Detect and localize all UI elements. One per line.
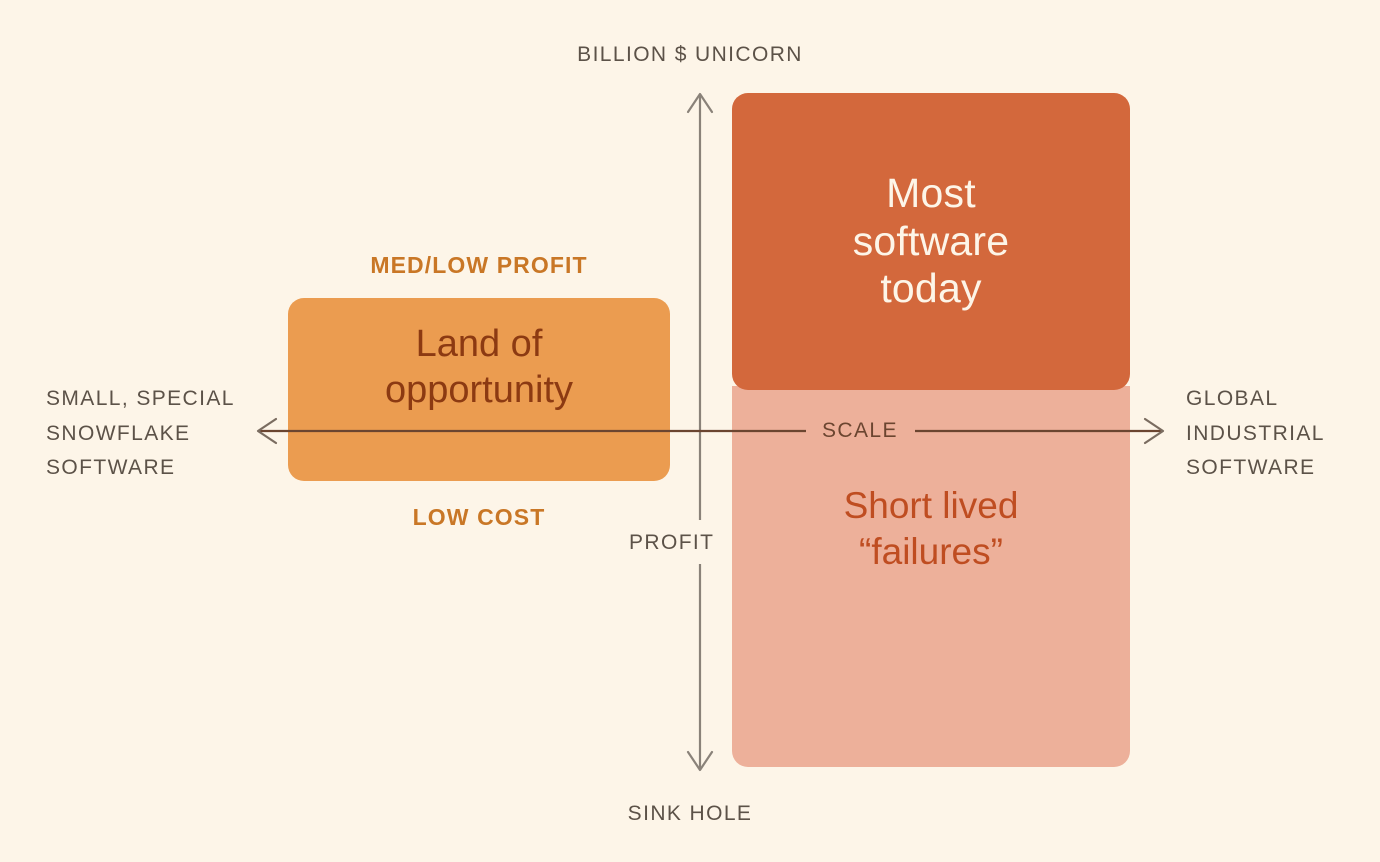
axis-label-sink-hole: SINK HOLE — [0, 797, 1380, 832]
quadrant-block-land-of-opportunity: Land of opportunity — [288, 298, 670, 481]
quadrant-block-short-lived-failures-label: Short lived “failures” — [844, 483, 1019, 573]
quadrant-block-land-of-opportunity-label: Land of opportunity — [385, 322, 573, 413]
quadrant-block-short-lived-failures: Short lived “failures” — [732, 386, 1130, 767]
callout-med-low-profit: MED/LOW PROFIT — [288, 252, 670, 279]
vertical-axis-down-arrowhead — [688, 752, 712, 770]
axis-name-profit: PROFIT — [629, 531, 714, 555]
quadrant-block-most-software-today: Most software today — [732, 93, 1130, 390]
axis-name-scale: SCALE — [822, 419, 898, 443]
axis-label-billion-dollar-unicorn: BILLION $ UNICORN — [0, 38, 1380, 73]
axis-label-small-special-snowflake-software: SMALL, SPECIAL SNOWFLAKE SOFTWARE — [46, 382, 261, 486]
callout-low-cost: LOW COST — [288, 504, 670, 531]
horizontal-axis-right-arrowhead — [1145, 419, 1163, 443]
quadrant-block-most-software-today-label: Most software today — [853, 170, 1010, 313]
diagram-canvas: Most software today Short lived “failure… — [0, 0, 1380, 862]
vertical-axis-up-arrowhead — [688, 94, 712, 112]
axis-label-global-industrial-software: GLOBAL INDUSTRIAL SOFTWARE — [1186, 382, 1376, 486]
